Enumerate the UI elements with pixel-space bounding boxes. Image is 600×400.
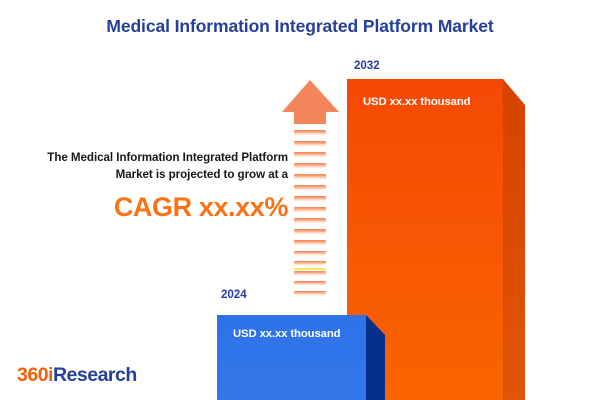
bar-2032-value-label: USD xx.xx thousand: [363, 96, 470, 108]
bar-2032-year-label: 2032: [354, 59, 380, 72]
bar-2024-value-label: USD xx.xx thousand: [233, 328, 340, 340]
narrative-block: The Medical Information Integrated Platf…: [8, 150, 288, 222]
narrative-lead-text: The Medical Information Integrated Platf…: [8, 150, 288, 183]
page-title: Medical Information Integrated Platform …: [0, 16, 600, 37]
logo-mark: 360i: [17, 364, 53, 386]
logo-word: Research: [53, 364, 137, 386]
cagr-highlight: CAGR xx.xx%: [8, 192, 288, 222]
up-arrow-icon: [281, 79, 341, 301]
brand-logo: 360iResearch: [17, 364, 137, 387]
bar-2024-year-label: 2024: [221, 288, 247, 301]
infographic-canvas: Medical Information Integrated Platform …: [0, 0, 600, 400]
